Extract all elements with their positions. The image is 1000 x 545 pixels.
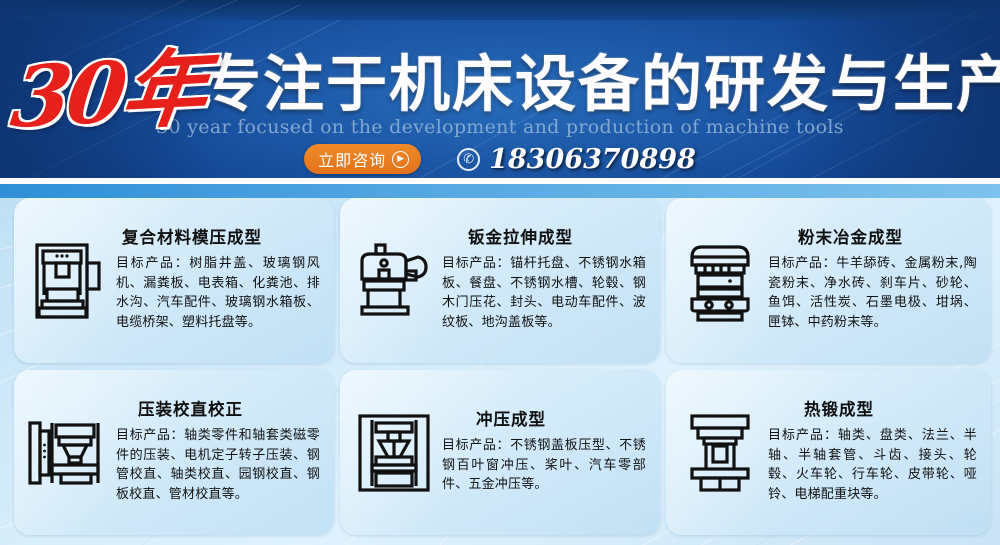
- card-stamping[interactable]: 冲压成型 目标产品：不锈钢盖板压型、不锈钢百叶窗冲压、桨叶、汽车零部件、五金冲压…: [340, 370, 660, 535]
- consult-now-button[interactable]: 立即咨询 ▶: [304, 144, 421, 174]
- press-fit-straightening-machine-icon: [20, 403, 116, 503]
- stamping-press-icon: [346, 403, 442, 503]
- card-title: 压装校直校正: [116, 400, 320, 420]
- arrow-right-icon: ▶: [392, 151, 409, 168]
- header-top-strip: [0, 0, 1000, 20]
- card-title: 热锻成型: [768, 400, 977, 420]
- headline-row: 30年 专注于机床设备的研发与生产: [0, 28, 1000, 112]
- card-description: 目标产品：牛羊舔砖、金属粉末,陶瓷粉末、净水砖、刹车片、砂轮、鱼饵、活性炭、石墨…: [768, 254, 977, 333]
- header-blue-separator: [0, 184, 1000, 198]
- card-hot-forging[interactable]: 热锻成型 目标产品：轴类、盘类、法兰、半轴、半轴套管、斗齿、接头、轮毂、火车轮、…: [666, 370, 991, 535]
- card-description: 目标产品：锚杆托盘、不锈钢水箱板、餐盘、不锈钢水槽、轮毂、钢木门压花、封头、电动…: [442, 254, 646, 333]
- card-title: 钣金拉伸成型: [442, 228, 646, 248]
- cta-row: 立即咨询 ▶ ✆ 18306370898: [0, 143, 1000, 175]
- card-powder-metallurgy[interactable]: 粉末冶金成型 目标产品：牛羊舔砖、金属粉末,陶瓷粉末、净水砖、刹车片、砂轮、鱼饵…: [666, 198, 991, 363]
- card-description: 目标产品：不锈钢盖板压型、不锈钢百叶窗冲压、桨叶、汽车零部件、五金冲压等。: [442, 436, 646, 495]
- banner-header: 30年 专注于机床设备的研发与生产 30 year focused on the…: [0, 0, 1000, 178]
- cards-grid: 复合材料模压成型 目标产品：树脂井盖、玻璃钢风机、漏粪板、电表箱、化粪池、排水沟…: [0, 198, 1000, 545]
- card-sheet-metal-stretch[interactable]: 钣金拉伸成型 目标产品：锚杆托盘、不锈钢水箱板、餐盘、不锈钢水槽、轮毂、钢木门压…: [340, 198, 660, 363]
- card-body: 压装校直校正 目标产品：轴类零件和轴套类磁零件的压装、电机定子转子压装、钢管校直…: [116, 400, 324, 505]
- years-badge: 30年: [6, 21, 211, 152]
- consult-button-label: 立即咨询: [318, 147, 386, 171]
- card-title: 复合材料模压成型: [116, 228, 320, 248]
- card-body: 粉末冶金成型 目标产品：牛羊舔砖、金属粉末,陶瓷粉末、净水砖、刹车片、砂轮、鱼饵…: [768, 228, 981, 333]
- card-body: 冲压成型 目标产品：不锈钢盖板压型、不锈钢百叶窗冲压、桨叶、汽车零部件、五金冲压…: [442, 410, 650, 495]
- card-title: 冲压成型: [442, 410, 646, 430]
- card-body: 复合材料模压成型 目标产品：树脂井盖、玻璃钢风机、漏粪板、电表箱、化粪池、排水沟…: [116, 228, 324, 333]
- hot-forging-press-icon: [672, 403, 768, 503]
- card-description: 目标产品：轴类、盘类、法兰、半轴、半轴套管、斗齿、接头、轮毂、火车轮、行车轮、皮…: [768, 426, 977, 505]
- promotional-banner: 30年 专注于机床设备的研发与生产 30 year focused on the…: [0, 0, 1000, 545]
- card-compression-molding[interactable]: 复合材料模压成型 目标产品：树脂井盖、玻璃钢风机、漏粪板、电表箱、化粪池、排水沟…: [14, 198, 334, 363]
- phone-number: 18306370898: [489, 144, 696, 175]
- card-description: 目标产品：轴类零件和轴套类磁零件的压装、电机定子转子压装、钢管校直、轴类校直、园…: [116, 426, 320, 505]
- powder-metallurgy-press-icon: [672, 231, 768, 331]
- card-title: 粉末冶金成型: [768, 228, 977, 248]
- card-description: 目标产品：树脂井盖、玻璃钢风机、漏粪板、电表箱、化粪池、排水沟、汽车配件、玻璃钢…: [116, 254, 320, 333]
- cards-area: 复合材料模压成型 目标产品：树脂井盖、玻璃钢风机、漏粪板、电表箱、化粪池、排水沟…: [0, 198, 1000, 545]
- card-body: 钣金拉伸成型 目标产品：锚杆托盘、不锈钢水箱板、餐盘、不锈钢水槽、轮毂、钢木门压…: [442, 228, 650, 333]
- card-press-fit-straightening[interactable]: 压装校直校正 目标产品：轴类零件和轴套类磁零件的压装、电机定子转子压装、钢管校直…: [14, 370, 334, 535]
- compression-molding-press-icon: [20, 231, 116, 331]
- sheet-metal-stretch-press-icon: [346, 231, 442, 331]
- card-body: 热锻成型 目标产品：轴类、盘类、法兰、半轴、半轴套管、斗齿、接头、轮毂、火车轮、…: [768, 400, 981, 505]
- phone-block[interactable]: ✆ 18306370898: [457, 144, 696, 175]
- telephone-icon: ✆: [457, 148, 480, 171]
- headline-chinese: 专注于机床设备的研发与生产: [200, 34, 1000, 123]
